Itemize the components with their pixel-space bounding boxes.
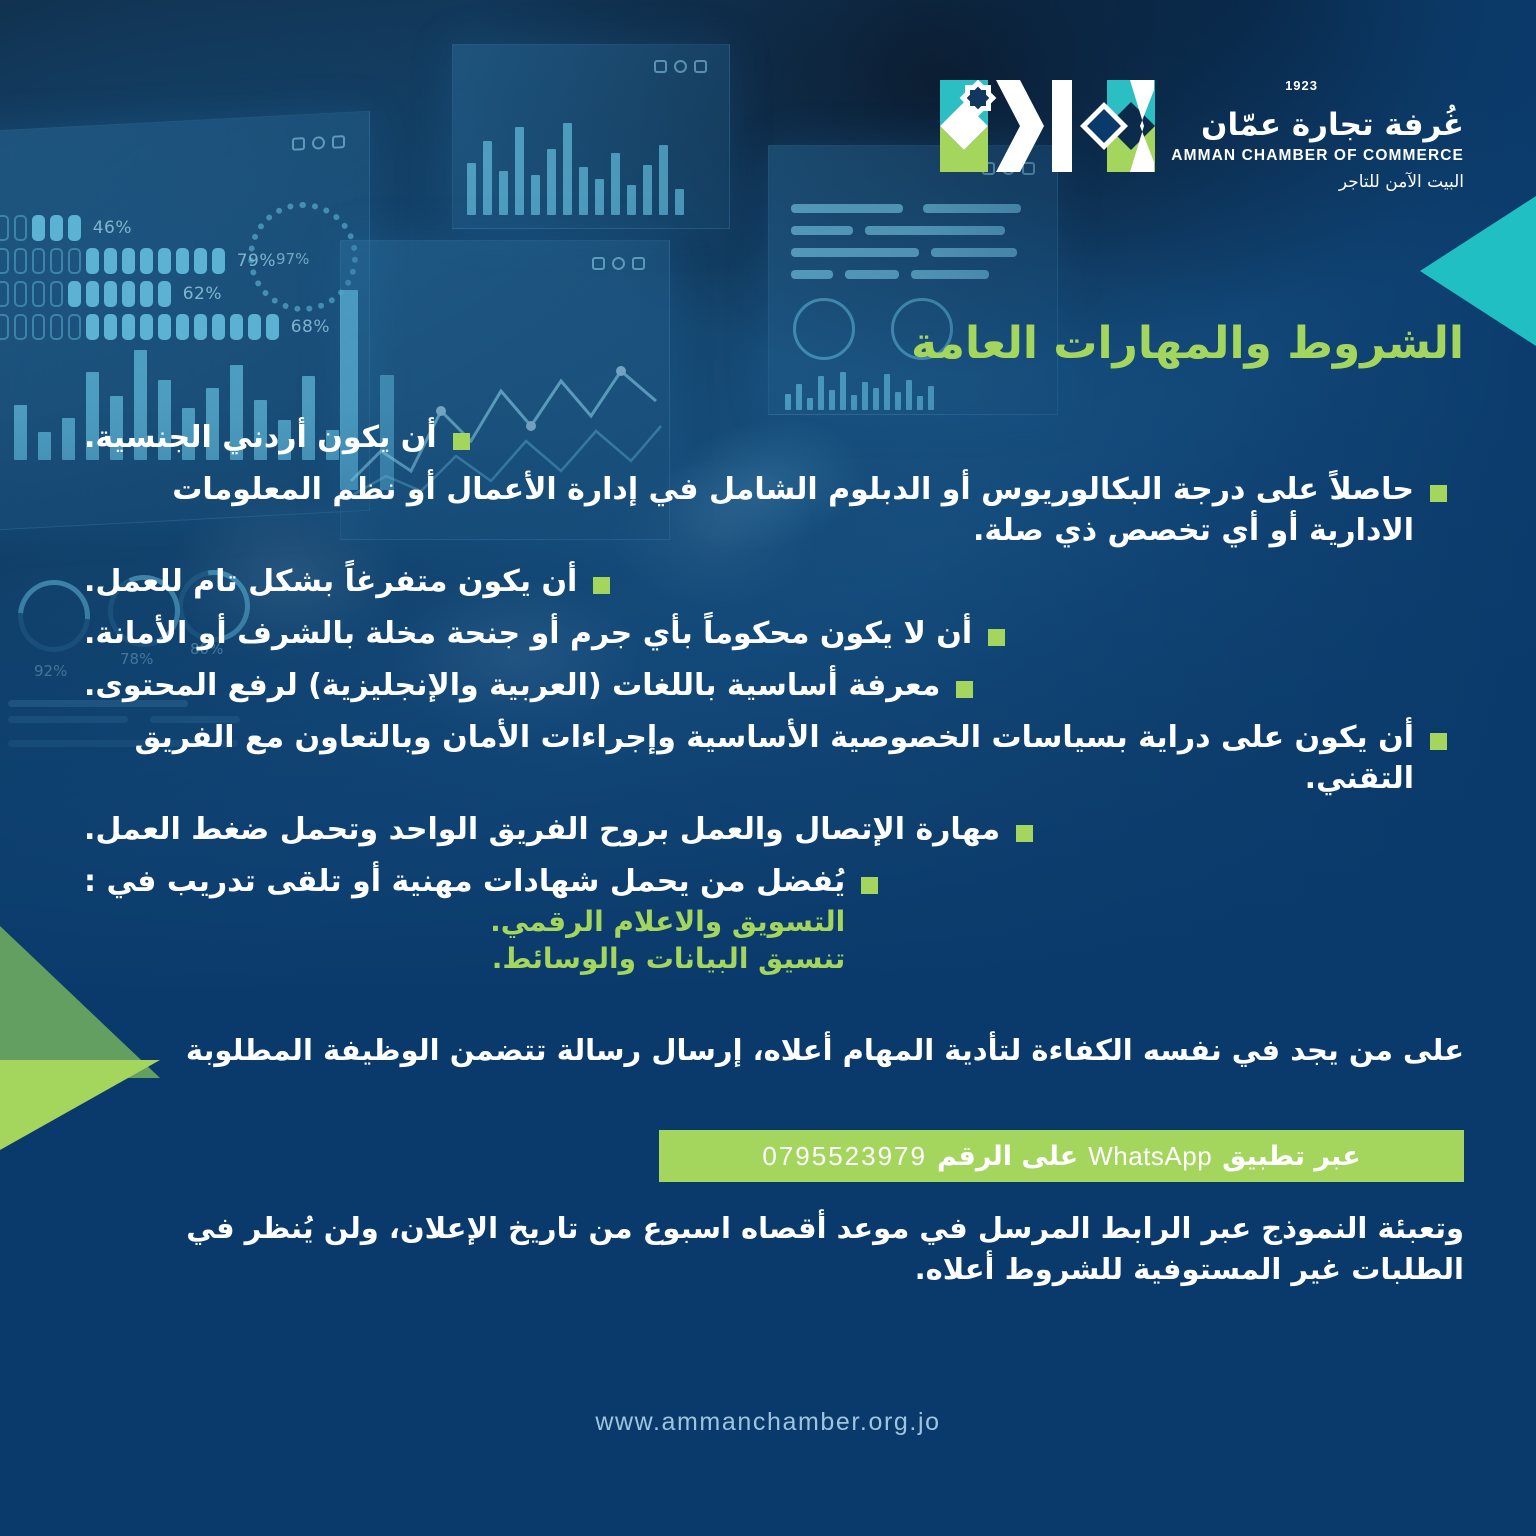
stat-row: 62% bbox=[0, 281, 222, 307]
brand-logo-block: غُرفة تجارة عمّان AMMAN CHAMBER OF COMME… bbox=[940, 78, 1464, 192]
panel-dots-icon bbox=[592, 257, 645, 270]
bullet-square-icon bbox=[1430, 733, 1447, 750]
list-item: حاصلاً على درجة البكالوريوس أو الدبلوم ا… bbox=[84, 470, 1464, 552]
brand-name-english: AMMAN CHAMBER OF COMMERCE bbox=[1171, 147, 1464, 165]
whatsapp-mid-label: على الرقم bbox=[937, 1141, 1078, 1172]
whatsapp-phone-number[interactable]: 0795523979 bbox=[762, 1141, 927, 1172]
requirement-text: معرفة أساسية باللغات (العربية والإنجليزي… bbox=[84, 666, 940, 707]
requirement-text: أن يكون أردني الجنسية. bbox=[84, 418, 437, 459]
bullet-square-icon bbox=[861, 877, 878, 894]
requirement-subitem: تنسيق البيانات والوسائط. bbox=[84, 940, 845, 978]
bullet-square-icon bbox=[956, 681, 973, 698]
list-item: أن يكون على دراية بسياسات الخصوصية الأسا… bbox=[84, 718, 1464, 800]
apply-instructions: على من يجد في نفسه الكفاءة لتأدية المهام… bbox=[74, 1030, 1464, 1071]
requirement-text: أن لا يكون محكوماً بأي جرم أو جنحة مخلة … bbox=[84, 614, 972, 655]
stat-row: 46% bbox=[0, 215, 132, 241]
brand-founded-year: 1923 bbox=[1285, 78, 1318, 93]
bullet-square-icon bbox=[593, 577, 610, 594]
brand-wordmark: غُرفة تجارة عمّان AMMAN CHAMBER OF COMME… bbox=[1171, 78, 1464, 192]
list-item: مهارة الإتصال والعمل بروح الفريق الواحد … bbox=[84, 810, 1464, 851]
requirement-text: أن يكون على دراية بسياسات الخصوصية الأسا… bbox=[84, 718, 1414, 800]
requirement-text: مهارة الإتصال والعمل بروح الفريق الواحد … bbox=[84, 810, 1000, 851]
bullet-square-icon bbox=[1430, 485, 1447, 502]
list-item: معرفة أساسية باللغات (العربية والإنجليزي… bbox=[84, 666, 1464, 707]
list-item: أن لا يكون محكوماً بأي جرم أو جنحة مخلة … bbox=[84, 614, 1464, 655]
requirements-list: أن يكون أردني الجنسية. حاصلاً على درجة ا… bbox=[84, 418, 1464, 989]
list-item: أن يكون أردني الجنسية. bbox=[84, 418, 1464, 459]
gauge-92-label: 92% bbox=[34, 662, 67, 680]
brand-name-arabic: غُرفة تجارة عمّان bbox=[1171, 108, 1464, 144]
logo-mark-svg bbox=[940, 80, 1155, 172]
deadline-note: وتعبئة النموذج عبر الرابط المرسل في موعد… bbox=[74, 1208, 1464, 1290]
requirement-text-with-subitems: يُفضل من يحمل شهادات مهنية أو تلقى تدريب… bbox=[84, 862, 845, 978]
website-url[interactable]: www.ammanchamber.org.jo bbox=[0, 1408, 1536, 1437]
progress-ring bbox=[248, 202, 358, 312]
panel-dots-icon bbox=[654, 60, 707, 73]
bullet-square-icon bbox=[1016, 825, 1033, 842]
green-arrow-lower-decoration bbox=[0, 1060, 160, 1150]
stat-row: 79% bbox=[0, 248, 276, 274]
progress-ring-label: 97% bbox=[276, 250, 309, 268]
dashboard-panel-bars bbox=[452, 44, 730, 229]
requirement-subitem: التسويق والاعلام الرقمي. bbox=[84, 903, 845, 941]
panel-gauge bbox=[793, 298, 855, 360]
bullet-square-icon bbox=[988, 629, 1005, 646]
poster-canvas: 46% 79% 62% 68% bbox=[0, 0, 1536, 1536]
page-title: الشروط والمهارات العامة bbox=[911, 318, 1464, 371]
list-item: يُفضل من يحمل شهادات مهنية أو تلقى تدريب… bbox=[84, 862, 1464, 978]
brand-tagline: البيت الآمن للتاجر bbox=[1171, 172, 1464, 192]
whatsapp-contact-banner[interactable]: عبر تطبيق WhatsApp على الرقم 0795523979 bbox=[659, 1130, 1464, 1182]
whatsapp-prefix-label: عبر تطبيق bbox=[1222, 1141, 1360, 1172]
requirement-text: حاصلاً على درجة البكالوريوس أو الدبلوم ا… bbox=[84, 470, 1414, 552]
whatsapp-app-label: WhatsApp bbox=[1088, 1141, 1212, 1172]
stat-row: 68% bbox=[0, 314, 330, 340]
panel-dots-icon bbox=[292, 135, 345, 151]
requirement-text: يُفضل من يحمل شهادات مهنية أو تلقى تدريب… bbox=[84, 864, 845, 899]
list-item: أن يكون متفرغاً بشكل تام للعمل. bbox=[84, 562, 1464, 603]
bullet-square-icon bbox=[453, 433, 470, 450]
requirement-text: أن يكون متفرغاً بشكل تام للعمل. bbox=[84, 562, 577, 603]
amman-chamber-logo-icon bbox=[940, 80, 1155, 172]
